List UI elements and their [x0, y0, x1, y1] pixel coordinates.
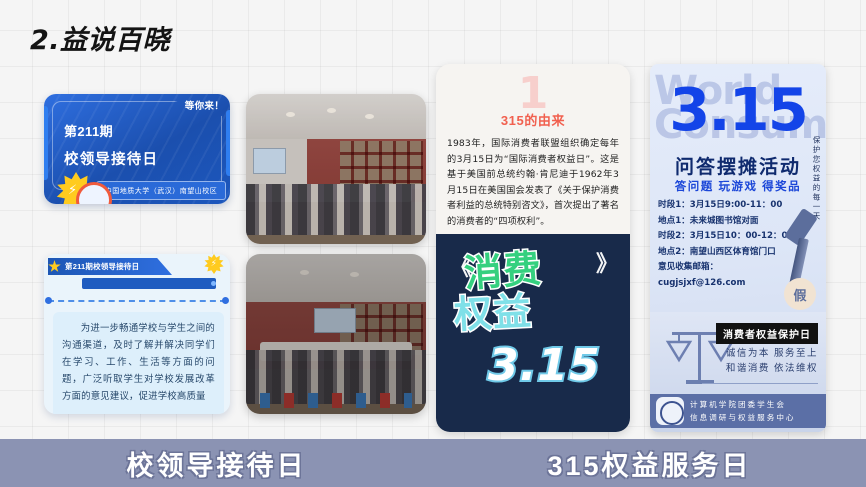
divider-dot-left: [45, 297, 52, 304]
content-stage: 等你来！ 第211期 校领导接待日 中国地质大学（武汉）南望山校区 ⚡ 第211…: [0, 56, 866, 434]
description-card-header: 第211期校领导接待日: [48, 258, 172, 275]
fake-mark-badge: 假: [784, 278, 816, 310]
divider-dot-right: [222, 297, 229, 304]
event-info-line: 时段2：3月15日10：00-12：00: [658, 229, 793, 245]
issue-number: 第211期: [64, 121, 113, 140]
contact-email[interactable]: cugjsjxf@126.com: [658, 276, 793, 292]
organization-logo-icon: [656, 397, 684, 425]
event-info-line: 地点1：未来城图书馆对面: [658, 214, 793, 230]
card-edge-left: [44, 106, 48, 180]
card-title: 校领导接待日: [64, 148, 158, 169]
meeting-room-photo-1[interactable]: [246, 94, 426, 244]
dashed-divider: [48, 300, 226, 303]
bottom-caption-bar: 校领导接待日 315权益服务日: [0, 439, 866, 487]
photo-column: [246, 94, 426, 414]
poster-line-1: 消费: [463, 249, 543, 292]
header-accent-bar: [82, 278, 216, 289]
card-edge-right: [226, 110, 230, 176]
description-body: 为进一步畅通学校与学生之间的沟通渠道，及时了解并解决同学们在学习、工作、生活等方…: [53, 312, 224, 414]
lightning-glyph-icon: ⚡: [211, 258, 217, 269]
poster-headline: 问答摆摊活动: [650, 152, 826, 179]
organization-line-2: 信息调研与权益服务中心: [690, 411, 796, 424]
page-title: 2.益说百晓: [30, 18, 170, 57]
poster-lower-panel: 消费者权益保护日 诚信为本 服务至上 和谐消费 依法维权 计算机学院团委学生会 …: [650, 312, 826, 432]
consumer-rights-poster[interactable]: 《 》 消费 权益 3.15: [436, 234, 630, 432]
slogan-line-2: 和谐消费 依法维权: [726, 361, 818, 376]
poster-line-3: 3.15: [488, 344, 601, 388]
poster-subheadline: 答问题 玩游戏 得奖品: [650, 178, 826, 194]
poster-big-number: 3.15: [650, 80, 826, 139]
left-column: 等你来！ 第211期 校领导接待日 中国地质大学（武汉）南望山校区 ⚡ 第211…: [44, 94, 230, 414]
divider-line: [702, 383, 818, 384]
event-info-line: 地点2：南望山西区体育馆门口: [658, 245, 793, 261]
poster-slogan: 诚信为本 服务至上 和谐消费 依法维权: [726, 346, 818, 376]
photo-overlay: [246, 254, 426, 414]
organization-bar: 计算机学院团委学生会 信息调研与权益服务中心: [650, 394, 826, 428]
slogan-line-1: 诚信为本 服务至上: [726, 346, 818, 361]
event-info-line: 时段1：3月15日9:00-11：00: [658, 198, 793, 214]
article-title: 315的由来: [436, 110, 630, 129]
organization-line-1: 计算机学院团委学生会: [690, 398, 796, 411]
campus-label: 中国地质大学（武汉）南望山校区: [96, 181, 226, 200]
bottom-label-right: 315权益服务日: [433, 444, 866, 483]
article-body: 1983年，国际消费者联盟组织确定每年的3月15日为“国际消费者权益日”。这是基…: [447, 136, 619, 229]
event-poster-card[interactable]: World Consumer 3.15 问答摆摊活动 答问题 玩游戏 得奖品 保…: [650, 64, 826, 432]
reception-day-card[interactable]: 等你来！ 第211期 校领导接待日 中国地质大学（武汉）南望山校区 ⚡: [44, 94, 230, 204]
poster-line-2: 权益: [453, 292, 533, 334]
poster-vertical-note: 保护您权益的每一天: [811, 136, 822, 222]
event-info-list: 时段1：3月15日9:00-11：00 地点1：未来城图书馆对面 时段2：3月1…: [658, 198, 793, 291]
organization-names: 计算机学院团委学生会 信息调研与权益服务中心: [690, 398, 796, 424]
bracket-close-icon: 》: [596, 246, 618, 278]
bottom-label-left: 校领导接待日: [0, 444, 433, 483]
meeting-room-photo-2[interactable]: [246, 254, 426, 414]
description-card[interactable]: 第211期校领导接待日 ⚡ 为进一步畅通学校与学生之间的沟通渠道，及时了解并解决…: [44, 254, 230, 414]
black-banner: 消费者权益保护日: [716, 323, 818, 344]
description-paragraph: 为进一步畅通学校与学生之间的沟通渠道，及时了解并解决同学们在学习、工作、生活等方…: [62, 320, 215, 405]
header-dot-icon: [211, 281, 216, 286]
article-card[interactable]: 1 315的由来 1983年，国际消费者联盟组织确定每年的3月15日为“国际消费…: [436, 64, 630, 432]
photo-overlay: [246, 94, 426, 244]
event-info-line: 意见收集邮箱：: [658, 260, 793, 276]
await-badge: 等你来！: [185, 98, 224, 112]
